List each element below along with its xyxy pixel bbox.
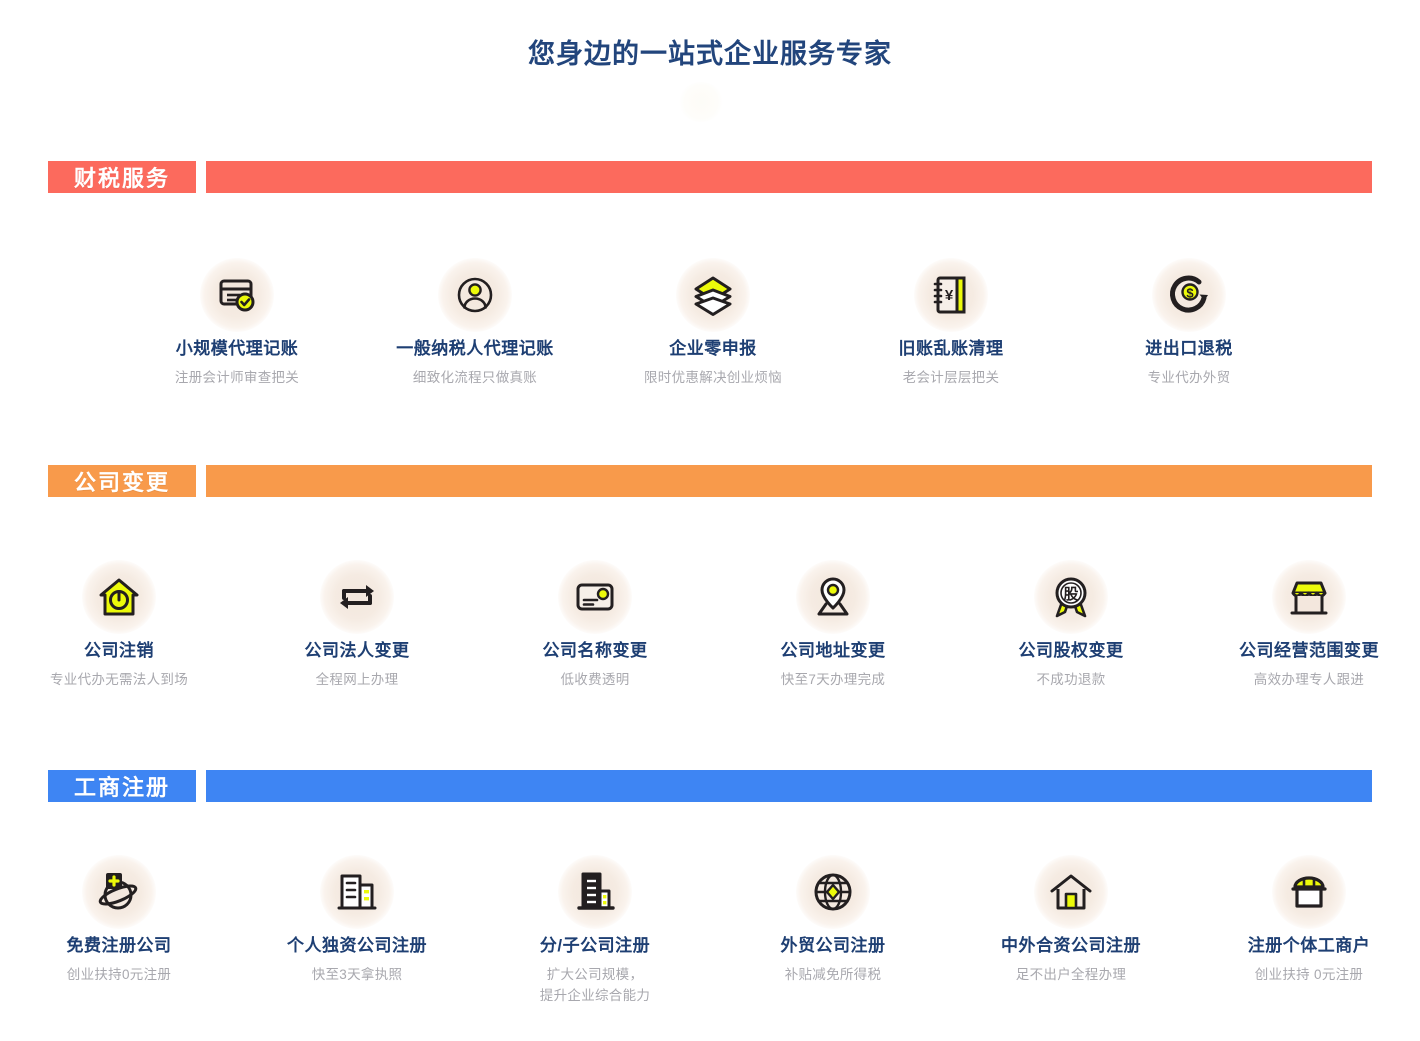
service-subtitle: 高效办理专人跟进 [1254, 670, 1364, 691]
service-item-farenbiangeng[interactable]: 公司法人变更 全程网上办理 [238, 560, 476, 691]
storefront-icon [1272, 560, 1346, 634]
service-title: 公司经营范围变更 [1239, 640, 1379, 663]
service-subtitle: 不成功退款 [1037, 670, 1106, 691]
service-item-zhongwaiheizi[interactable]: 中外合资公司注册 足不出户全程办理 [952, 855, 1190, 986]
planet-plus-icon [82, 855, 156, 929]
service-title: 注册个体工商户 [1248, 935, 1371, 958]
globe-diamond-icon [796, 855, 870, 929]
tower-building-icon [558, 855, 632, 929]
service-item-waimaogongsi[interactable]: 外贸公司注册 补贴减免所得税 [714, 855, 952, 986]
section-finance-tax: 财税服务 [0, 161, 1420, 193]
service-subtitle: 低收费透明 [561, 670, 630, 691]
service-item-guquanbiangeng[interactable]: 股 公司股权变更 不成功退款 [952, 560, 1190, 691]
service-item-mianfeizhuce[interactable]: 免费注册公司 创业扶持0元注册 [0, 855, 238, 986]
service-row-finance-tax: 小规模代理记账 注册会计师审查把关 一般纳税人代理记账 细致化流程只做真账 [0, 258, 1420, 389]
service-item-xiaoguimo[interactable]: 小规模代理记账 注册会计师审查把关 [118, 258, 356, 389]
service-title: 中外合资公司注册 [1001, 935, 1141, 958]
section-header-bar: 公司变更 [48, 465, 1372, 497]
service-title: 公司股权变更 [1019, 640, 1124, 663]
service-title: 免费注册公司 [67, 935, 172, 958]
map-pin-icon [796, 560, 870, 634]
bar-extension [206, 161, 1372, 193]
service-title: 公司注销 [84, 640, 154, 663]
service-title: 公司名称变更 [543, 640, 648, 663]
svg-text:股: 股 [1063, 586, 1079, 603]
section-company-change: 公司变更 [0, 465, 1420, 497]
section-label-company-change: 公司变更 [48, 465, 196, 497]
invoice-check-icon [200, 258, 274, 332]
service-subtitle: 创业扶持0元注册 [67, 965, 171, 986]
service-title: 个人独资公司注册 [287, 935, 427, 958]
service-item-mingchengbiangeng[interactable]: 公司名称变更 低收费透明 [476, 560, 714, 691]
bar-extension [206, 465, 1372, 497]
service-item-yibannashui[interactable]: 一般纳税人代理记账 细致化流程只做真账 [356, 258, 594, 389]
svg-text:¥: ¥ [945, 287, 954, 304]
service-subtitle: 创业扶持 0元注册 [1255, 965, 1363, 986]
service-item-lingshenbao[interactable]: 企业零申报 限时优惠解决创业烦恼 [594, 258, 832, 389]
service-subtitle: 注册会计师审查把关 [175, 368, 299, 389]
office-building-icon [320, 855, 394, 929]
service-item-jiuzhang[interactable]: ¥ 旧账乱账清理 老会计层层把关 [832, 258, 1070, 389]
swap-arrows-icon [320, 560, 394, 634]
svg-text:$: $ [1186, 286, 1194, 301]
service-subtitle: 限时优惠解决创业烦恼 [644, 368, 782, 389]
layers-stack-icon [676, 258, 750, 332]
service-title: 小规模代理记账 [176, 338, 299, 361]
service-subtitle: 专业代办无需法人到场 [50, 670, 188, 691]
section-business-registration: 工商注册 [0, 770, 1420, 802]
service-subtitle: 快至3天拿执照 [312, 965, 403, 986]
service-title: 旧账乱账清理 [899, 338, 1004, 361]
market-stall-icon [1272, 855, 1346, 929]
service-item-zhuxiao[interactable]: 公司注销 专业代办无需法人到场 [0, 560, 238, 691]
bar-gap [196, 465, 206, 497]
service-title: 进出口退税 [1145, 338, 1233, 361]
service-item-jinchukou[interactable]: $ 进出口退税 专业代办外贸 [1070, 258, 1308, 389]
service-title: 分/子公司注册 [540, 935, 650, 958]
ledger-yen-icon: ¥ [914, 258, 988, 332]
section-label-business-registration: 工商注册 [48, 770, 196, 802]
service-title: 外贸公司注册 [781, 935, 886, 958]
service-item-jingyingfanwei[interactable]: 公司经营范围变更 高效办理专人跟进 [1190, 560, 1420, 691]
service-item-fenzigongsi[interactable]: 分/子公司注册 扩大公司规模， 提升企业综合能力 [476, 855, 714, 1007]
service-catalog-page: 您身边的一站式企业服务专家 财税服务 [0, 0, 1420, 1041]
service-item-gerenduzi[interactable]: 个人独资公司注册 快至3天拿执照 [238, 855, 476, 986]
house-power-icon [82, 560, 156, 634]
service-subtitle: 老会计层层把关 [903, 368, 1000, 389]
page-title: 您身边的一站式企业服务专家 [0, 32, 1420, 71]
service-subtitle: 扩大公司规模， 提升企业综合能力 [540, 965, 650, 1007]
service-title: 企业零申报 [669, 338, 757, 361]
section-header-bar: 财税服务 [48, 161, 1372, 193]
bar-gap [196, 770, 206, 802]
service-row-business-registration: 免费注册公司 创业扶持0元注册 个人独资公司注册 [0, 855, 1420, 1007]
section-header-bar: 工商注册 [48, 770, 1372, 802]
bar-extension [206, 770, 1372, 802]
section-label-finance-tax: 财税服务 [48, 161, 196, 193]
home-door-icon [1034, 855, 1108, 929]
service-subtitle: 细致化流程只做真账 [413, 368, 537, 389]
user-circle-icon [438, 258, 512, 332]
service-subtitle: 补贴减免所得税 [785, 965, 882, 986]
service-title: 一般纳税人代理记账 [396, 338, 554, 361]
service-subtitle: 专业代办外贸 [1148, 368, 1231, 389]
equity-medal-icon: 股 [1034, 560, 1108, 634]
service-title: 公司地址变更 [781, 640, 886, 663]
service-item-dizhibiangeng[interactable]: 公司地址变更 快至7天办理完成 [714, 560, 952, 691]
service-subtitle: 足不出户全程办理 [1016, 965, 1126, 986]
service-subtitle: 全程网上办理 [316, 670, 399, 691]
service-subtitle: 快至7天办理完成 [781, 670, 885, 691]
service-item-getigongshanghu[interactable]: 注册个体工商户 创业扶持 0元注册 [1190, 855, 1420, 986]
bar-gap [196, 161, 206, 193]
service-title: 公司法人变更 [305, 640, 410, 663]
title-decoration-icon [678, 82, 724, 122]
service-row-company-change: 公司注销 专业代办无需法人到场 公司法人变更 全程网上办理 [0, 560, 1420, 691]
id-card-icon [558, 560, 632, 634]
refund-dollar-icon: $ [1152, 258, 1226, 332]
